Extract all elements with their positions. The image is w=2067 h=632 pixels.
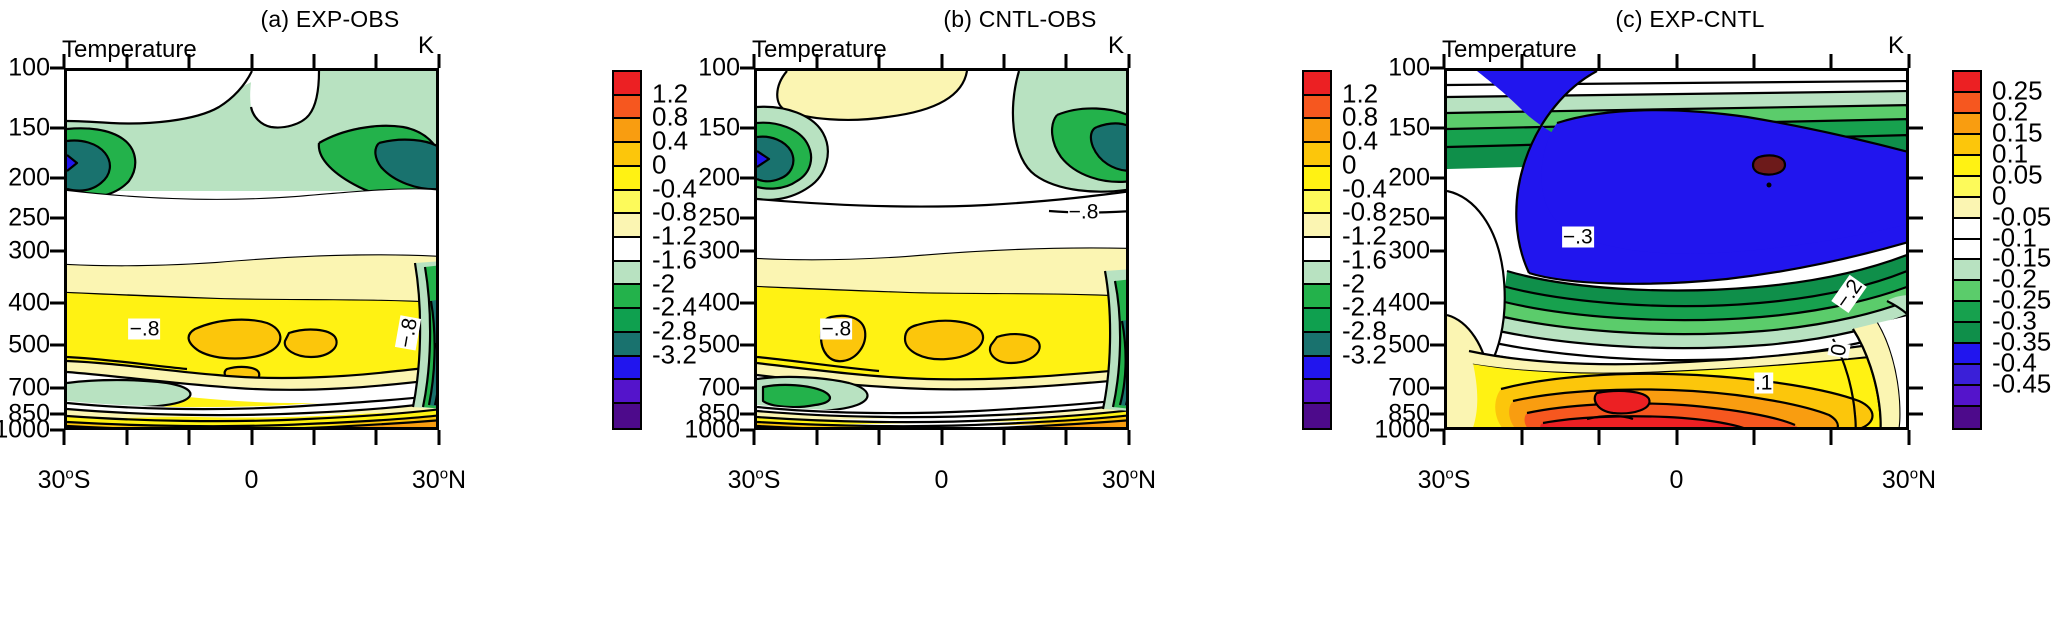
panel-a-ytick-400 bbox=[50, 302, 64, 305]
panel-c-ylabel-300: 300 bbox=[1388, 238, 1430, 263]
panel-b-xtick-2 bbox=[877, 430, 880, 445]
panel-b-ytick-250 bbox=[740, 217, 754, 220]
colorbar-cell-10 bbox=[614, 309, 640, 333]
panel-a-ytick-850 bbox=[50, 412, 64, 415]
colorbar-cell-1 bbox=[1304, 96, 1330, 120]
colorbar-cell-5 bbox=[1304, 191, 1330, 215]
colorbar-cell-2 bbox=[614, 119, 640, 143]
colorbar-cell-8 bbox=[614, 262, 640, 286]
panel-a-ylabel-100: 100 bbox=[8, 56, 50, 81]
panel-a-contour-label-0: −.8 bbox=[129, 319, 161, 340]
colorbar-cell-9 bbox=[1954, 260, 1980, 281]
colorbar-cell-15 bbox=[1954, 386, 1980, 407]
panel-c-plot: −.3 −.2 0 .1 100 150 200 250 300 400 500… bbox=[1444, 68, 1909, 430]
colorbar-panel-b-strip bbox=[1302, 70, 1332, 430]
panel-b-xtick-top-2 bbox=[877, 54, 880, 68]
panel-c-xlabel-30N: 30oN bbox=[1882, 466, 1936, 495]
panel-b-plot: −.8 −.8 100 150 200 250 300 400 500 700 … bbox=[754, 68, 1129, 430]
panel-b-ylabel-400: 400 bbox=[698, 291, 740, 316]
panel-a-ytick-150 bbox=[50, 126, 64, 129]
panel-b-xtick-5 bbox=[1065, 430, 1068, 445]
panel-a-plot: −.8 −.8 100 150 200 250 300 400 500 700 … bbox=[64, 68, 439, 430]
colorbar-cell-6 bbox=[614, 214, 640, 238]
colorbar-cell-0 bbox=[1954, 72, 1980, 93]
panel-b-contour-label-0: −.8 bbox=[820, 319, 852, 340]
panel-c-xtick-top-1 bbox=[1520, 54, 1523, 68]
panel-b-plot-frame: −.8 −.8 bbox=[754, 68, 1129, 430]
colorbar-tick-label-14: -0.45 bbox=[1992, 369, 2051, 400]
panel-b-ylabel-200: 200 bbox=[698, 166, 740, 191]
panel-b-ylabel-300: 300 bbox=[698, 238, 740, 263]
panel-b-ytick-150 bbox=[740, 126, 754, 129]
colorbar-cell-8 bbox=[1954, 240, 1980, 261]
panel-a-xtick-0 bbox=[63, 430, 66, 445]
colorbar-cell-12 bbox=[614, 357, 640, 381]
panel-a-xtick-5 bbox=[375, 430, 378, 445]
panel-b-variable-label: Temperature bbox=[752, 36, 887, 64]
colorbar-cell-3 bbox=[614, 143, 640, 167]
colorbar-cell-2 bbox=[1954, 114, 1980, 135]
panel-c-variable-label: Temperature bbox=[1442, 36, 1577, 64]
panel-c-ytick-right-700 bbox=[1909, 387, 1923, 390]
panel-c-xtick-top-6 bbox=[1908, 54, 1911, 68]
panel-b-xlabel-0: 0 bbox=[935, 466, 949, 495]
panel-c-ylabel-1000: 1000 bbox=[1374, 418, 1430, 443]
colorbar-cell-14 bbox=[1304, 404, 1330, 428]
panel-b-ylabel-250: 250 bbox=[698, 206, 740, 231]
panel-a-variable-label: Temperature bbox=[62, 36, 197, 64]
panel-b-xlabel-30N: 30oN bbox=[1102, 466, 1156, 495]
colorbar-cell-14 bbox=[1954, 365, 1980, 386]
panel-c: (c) EXP-CNTL Temperature K bbox=[1380, 0, 2067, 632]
panel-c-xtick-top-3 bbox=[1675, 54, 1678, 68]
panel-a-xtick-3 bbox=[250, 430, 253, 445]
colorbar-cell-2 bbox=[1304, 119, 1330, 143]
colorbar-cell-4 bbox=[1304, 167, 1330, 191]
panel-b-xtick-3 bbox=[940, 430, 943, 445]
panel-c-plot-frame: −.3 −.2 0 .1 bbox=[1444, 68, 1909, 430]
panel-b-title: (b) CNTL-OBS bbox=[690, 6, 1350, 33]
panel-b-ytick-400 bbox=[740, 302, 754, 305]
panel-b-contour-label-1: −.8 bbox=[1068, 201, 1100, 222]
panel-b-ytick-700 bbox=[740, 387, 754, 390]
panel-c-xtick-1 bbox=[1520, 430, 1523, 445]
panel-a-xlabel-30N: 30oN bbox=[412, 466, 466, 495]
panel-a-xtick-top-5 bbox=[375, 54, 378, 68]
colorbar-cell-1 bbox=[1954, 93, 1980, 114]
panel-a-xtick-1 bbox=[125, 430, 128, 445]
panel-c-units-label: K bbox=[1888, 32, 1904, 60]
panel-c-xlabel-30S: 30oS bbox=[1418, 466, 1471, 495]
colorbar-cell-6 bbox=[1304, 214, 1330, 238]
panel-b-xtick-top-0 bbox=[753, 54, 756, 68]
panel-b-ylabel-700: 700 bbox=[698, 376, 740, 401]
panel-c-contour-field bbox=[1447, 71, 1909, 430]
panel-a-plot-frame: −.8 −.8 bbox=[64, 68, 439, 430]
panel-a-ylabel-700: 700 bbox=[8, 376, 50, 401]
panel-a-ylabel-150: 150 bbox=[8, 115, 50, 140]
panel-b-ylabel-1000: 1000 bbox=[684, 418, 740, 443]
panel-c-ylabel-500: 500 bbox=[1388, 332, 1430, 357]
panel-a-ytick-700 bbox=[50, 387, 64, 390]
panel-c-xtick-top-2 bbox=[1597, 54, 1600, 68]
colorbar-panel-a-strip bbox=[612, 70, 642, 430]
panel-a-xtick-top-3 bbox=[250, 54, 253, 68]
panel-c-xtick-4 bbox=[1753, 430, 1756, 445]
panel-a-ylabel-500: 500 bbox=[8, 332, 50, 357]
colorbar-cell-10 bbox=[1304, 309, 1330, 333]
panel-c-ytick-right-300 bbox=[1909, 249, 1923, 252]
panel-a-ytick-250 bbox=[50, 217, 64, 220]
panel-c-ytick-right-500 bbox=[1909, 343, 1923, 346]
colorbar-cell-12 bbox=[1304, 357, 1330, 381]
colorbar-cell-0 bbox=[614, 72, 640, 96]
colorbar-cell-3 bbox=[1954, 135, 1980, 156]
colorbar-cell-11 bbox=[1954, 302, 1980, 323]
panel-a-ytick-200 bbox=[50, 177, 64, 180]
colorbar-cell-5 bbox=[614, 191, 640, 215]
colorbar-cell-9 bbox=[614, 285, 640, 309]
panel-c-xtick-2 bbox=[1597, 430, 1600, 445]
colorbar-cell-16 bbox=[1954, 407, 1980, 428]
colorbar-cell-7 bbox=[614, 238, 640, 262]
panel-c-xtick-3 bbox=[1675, 430, 1678, 445]
colorbar-cell-13 bbox=[614, 380, 640, 404]
panel-a-ylabel-200: 200 bbox=[8, 166, 50, 191]
panel-a-xlabel-0: 0 bbox=[245, 466, 259, 495]
colorbar-cell-5 bbox=[1954, 177, 1980, 198]
panel-c-ytick-200 bbox=[1430, 177, 1444, 180]
panel-c-ytick-300 bbox=[1430, 249, 1444, 252]
panel-c-ylabel-400: 400 bbox=[1388, 291, 1430, 316]
panel-a-units-label: K bbox=[418, 32, 434, 60]
panel-b-xtick-0 bbox=[753, 430, 756, 445]
colorbar-cell-8 bbox=[1304, 262, 1330, 286]
panel-a-xlabel-30S: 30oS bbox=[38, 466, 91, 495]
panel-c-ytick-right-150 bbox=[1909, 126, 1923, 129]
colorbar-cell-1 bbox=[614, 96, 640, 120]
panel-a: (a) EXP-OBS Temperature K bbox=[0, 0, 660, 632]
panel-c-ytick-400 bbox=[1430, 302, 1444, 305]
panel-b-xlabel-30S: 30oS bbox=[728, 466, 781, 495]
colorbar-cell-11 bbox=[614, 333, 640, 357]
colorbar-cell-10 bbox=[1954, 281, 1980, 302]
figure-root: (a) EXP-OBS Temperature K bbox=[0, 0, 2067, 632]
colorbar-cell-13 bbox=[1954, 344, 1980, 365]
colorbar-cell-9 bbox=[1304, 285, 1330, 309]
panel-c-ylabel-150: 150 bbox=[1388, 115, 1430, 140]
panel-c-xtick-6 bbox=[1908, 430, 1911, 445]
colorbar-panel-c-strip bbox=[1952, 70, 1982, 430]
panel-a-xtick-top-0 bbox=[63, 54, 66, 68]
colorbar-cell-4 bbox=[614, 167, 640, 191]
panel-c-contour-label-0: −.3 bbox=[1562, 226, 1594, 247]
panel-b-ytick-200 bbox=[740, 177, 754, 180]
panel-b-units-label: K bbox=[1108, 32, 1124, 60]
panel-a-contour-field bbox=[67, 71, 439, 430]
panel-a-xtick-2 bbox=[187, 430, 190, 445]
panel-c-ytick-right-200 bbox=[1909, 177, 1923, 180]
panel-c-ytick-250 bbox=[1430, 217, 1444, 220]
panel-b-xtick-top-4 bbox=[1003, 54, 1006, 68]
panel-b-ytick-300 bbox=[740, 249, 754, 252]
panel-b-xtick-top-6 bbox=[1128, 54, 1131, 68]
colorbar-cell-11 bbox=[1304, 333, 1330, 357]
panel-b-ylabel-150: 150 bbox=[698, 115, 740, 140]
panel-c-contour-label-3: .1 bbox=[1754, 372, 1774, 393]
panel-c-ylabel-250: 250 bbox=[1388, 206, 1430, 231]
panel-c-ylabel-100: 100 bbox=[1388, 56, 1430, 81]
panel-c-ylabel-700: 700 bbox=[1388, 376, 1430, 401]
panel-a-ylabel-300: 300 bbox=[8, 238, 50, 263]
colorbar-cell-7 bbox=[1304, 238, 1330, 262]
panel-a-contour-label-1: −.8 bbox=[395, 315, 421, 350]
colorbar-cell-0 bbox=[1304, 72, 1330, 96]
colorbar-cell-12 bbox=[1954, 323, 1980, 344]
colorbar-cell-6 bbox=[1954, 198, 1980, 219]
panel-c-xtick-top-4 bbox=[1753, 54, 1756, 68]
colorbar-cell-4 bbox=[1954, 156, 1980, 177]
panel-a-xtick-top-1 bbox=[125, 54, 128, 68]
panel-a-ytick-500 bbox=[50, 343, 64, 346]
panel-a-ylabel-1000: 1000 bbox=[0, 418, 50, 443]
panel-c-xlabel-0: 0 bbox=[1670, 466, 1684, 495]
panel-a-title: (a) EXP-OBS bbox=[0, 6, 660, 33]
colorbar-cell-14 bbox=[614, 404, 640, 428]
panel-a-xtick-6 bbox=[438, 430, 441, 445]
panel-c-ytick-right-250 bbox=[1909, 217, 1923, 220]
panel-b: (b) CNTL-OBS Temperature K bbox=[690, 0, 1350, 632]
colorbar-cell-13 bbox=[1304, 380, 1330, 404]
panel-c-ytick-850 bbox=[1430, 412, 1444, 415]
panel-a-xtick-top-6 bbox=[438, 54, 441, 68]
panel-b-xtick-top-3 bbox=[940, 54, 943, 68]
panel-a-xtick-top-2 bbox=[187, 54, 190, 68]
panel-a-ytick-300 bbox=[50, 249, 64, 252]
panel-a-xtick-4 bbox=[313, 430, 316, 445]
panel-b-xtick-4 bbox=[1003, 430, 1006, 445]
panel-c-ylabel-200: 200 bbox=[1388, 166, 1430, 191]
panel-c-ytick-right-850 bbox=[1909, 412, 1923, 415]
panel-b-xtick-top-1 bbox=[815, 54, 818, 68]
panel-c-xtick-0 bbox=[1443, 430, 1446, 445]
panel-c-title: (c) EXP-CNTL bbox=[1380, 6, 2000, 33]
panel-b-contour-field bbox=[757, 71, 1129, 430]
colorbar-cell-7 bbox=[1954, 219, 1980, 240]
panel-a-ylabel-400: 400 bbox=[8, 291, 50, 316]
panel-c-xtick-top-0 bbox=[1443, 54, 1446, 68]
panel-c-xtick-top-5 bbox=[1830, 54, 1833, 68]
panel-a-xtick-top-4 bbox=[313, 54, 316, 68]
panel-c-ytick-700 bbox=[1430, 387, 1444, 390]
panel-b-ylabel-100: 100 bbox=[698, 56, 740, 81]
panel-b-xtick-top-5 bbox=[1065, 54, 1068, 68]
panel-c-ytick-150 bbox=[1430, 126, 1444, 129]
panel-c-xtick-5 bbox=[1830, 430, 1833, 445]
panel-c-ytick-right-400 bbox=[1909, 302, 1923, 305]
panel-b-ylabel-500: 500 bbox=[698, 332, 740, 357]
panel-b-xtick-6 bbox=[1128, 430, 1131, 445]
panel-c-ytick-500 bbox=[1430, 343, 1444, 346]
panel-a-ylabel-250: 250 bbox=[8, 206, 50, 231]
panel-b-ytick-850 bbox=[740, 412, 754, 415]
colorbar-cell-3 bbox=[1304, 143, 1330, 167]
panel-b-xtick-1 bbox=[815, 430, 818, 445]
panel-b-ytick-500 bbox=[740, 343, 754, 346]
